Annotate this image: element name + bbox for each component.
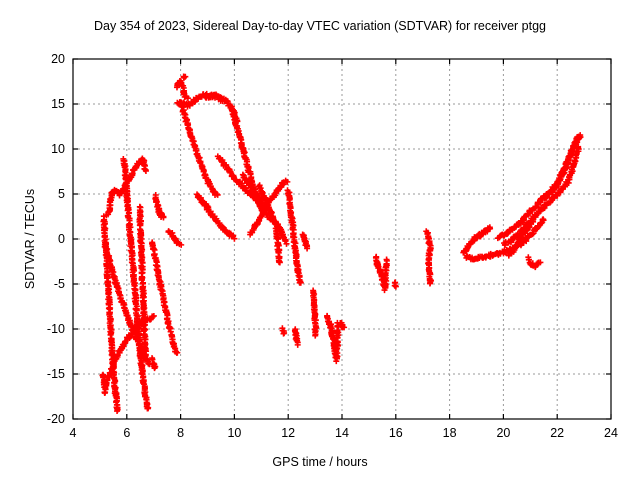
- y-tick-label: 10: [5, 142, 65, 156]
- x-tick-label: 8: [161, 426, 201, 440]
- x-tick-label: 24: [591, 426, 631, 440]
- x-tick-label: 16: [376, 426, 416, 440]
- y-tick-label: 5: [5, 187, 65, 201]
- x-tick-label: 22: [537, 426, 577, 440]
- x-tick-label: 18: [430, 426, 470, 440]
- x-tick-label: 20: [483, 426, 523, 440]
- y-tick-label: 20: [5, 52, 65, 66]
- x-tick-label: 6: [107, 426, 147, 440]
- plot-root: Day 354 of 2023, Sidereal Day-to-day VTE…: [0, 0, 640, 480]
- y-tick-label: -20: [5, 412, 65, 426]
- x-tick-label: 4: [53, 426, 93, 440]
- y-tick-label: -5: [5, 277, 65, 291]
- y-tick-label: -10: [5, 322, 65, 336]
- x-tick-label: 10: [214, 426, 254, 440]
- scatter-plot-canvas: [0, 0, 640, 480]
- x-tick-label: 14: [322, 426, 362, 440]
- x-tick-label: 12: [268, 426, 308, 440]
- y-tick-label: 0: [5, 232, 65, 246]
- y-tick-label: 15: [5, 97, 65, 111]
- data-markers: [99, 74, 583, 415]
- y-tick-label: -15: [5, 367, 65, 381]
